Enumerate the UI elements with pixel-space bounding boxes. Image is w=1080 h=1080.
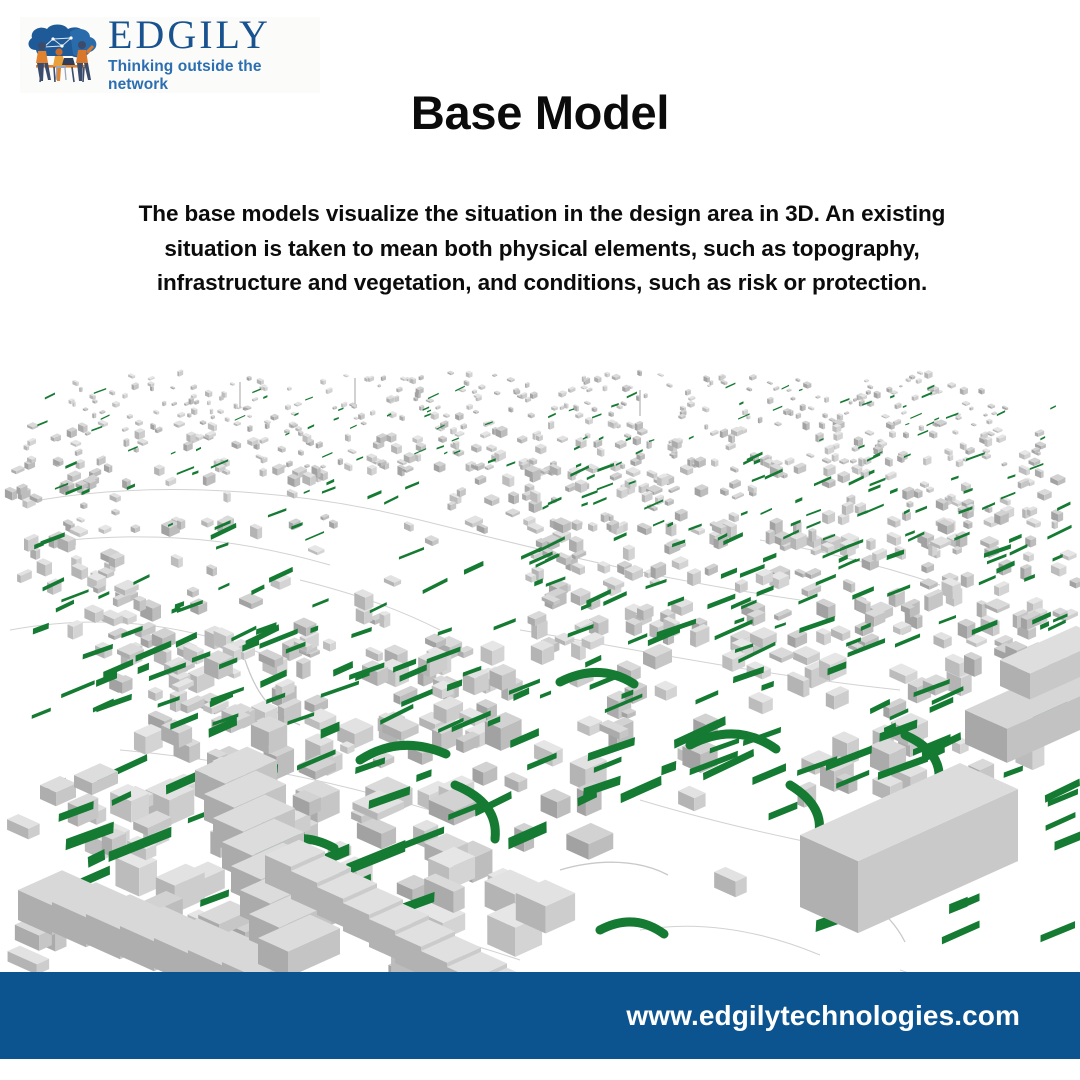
website-url[interactable]: www.edgilytechnologies.com [626, 1000, 1020, 1032]
city-model-svg [0, 330, 1080, 1080]
page-title: Base Model [0, 85, 1080, 140]
body-paragraph: The base models visualize the situation … [118, 197, 966, 301]
brand-logo[interactable]: EDGILY Thinking outside the network [20, 17, 320, 93]
base-model-3d-visual [0, 330, 1080, 1080]
tree-people-table-icon [20, 20, 106, 90]
brand-wordmark: EDGILY [108, 16, 320, 54]
slide-canvas: EDGILY Thinking outside the network Base… [0, 0, 1080, 1080]
